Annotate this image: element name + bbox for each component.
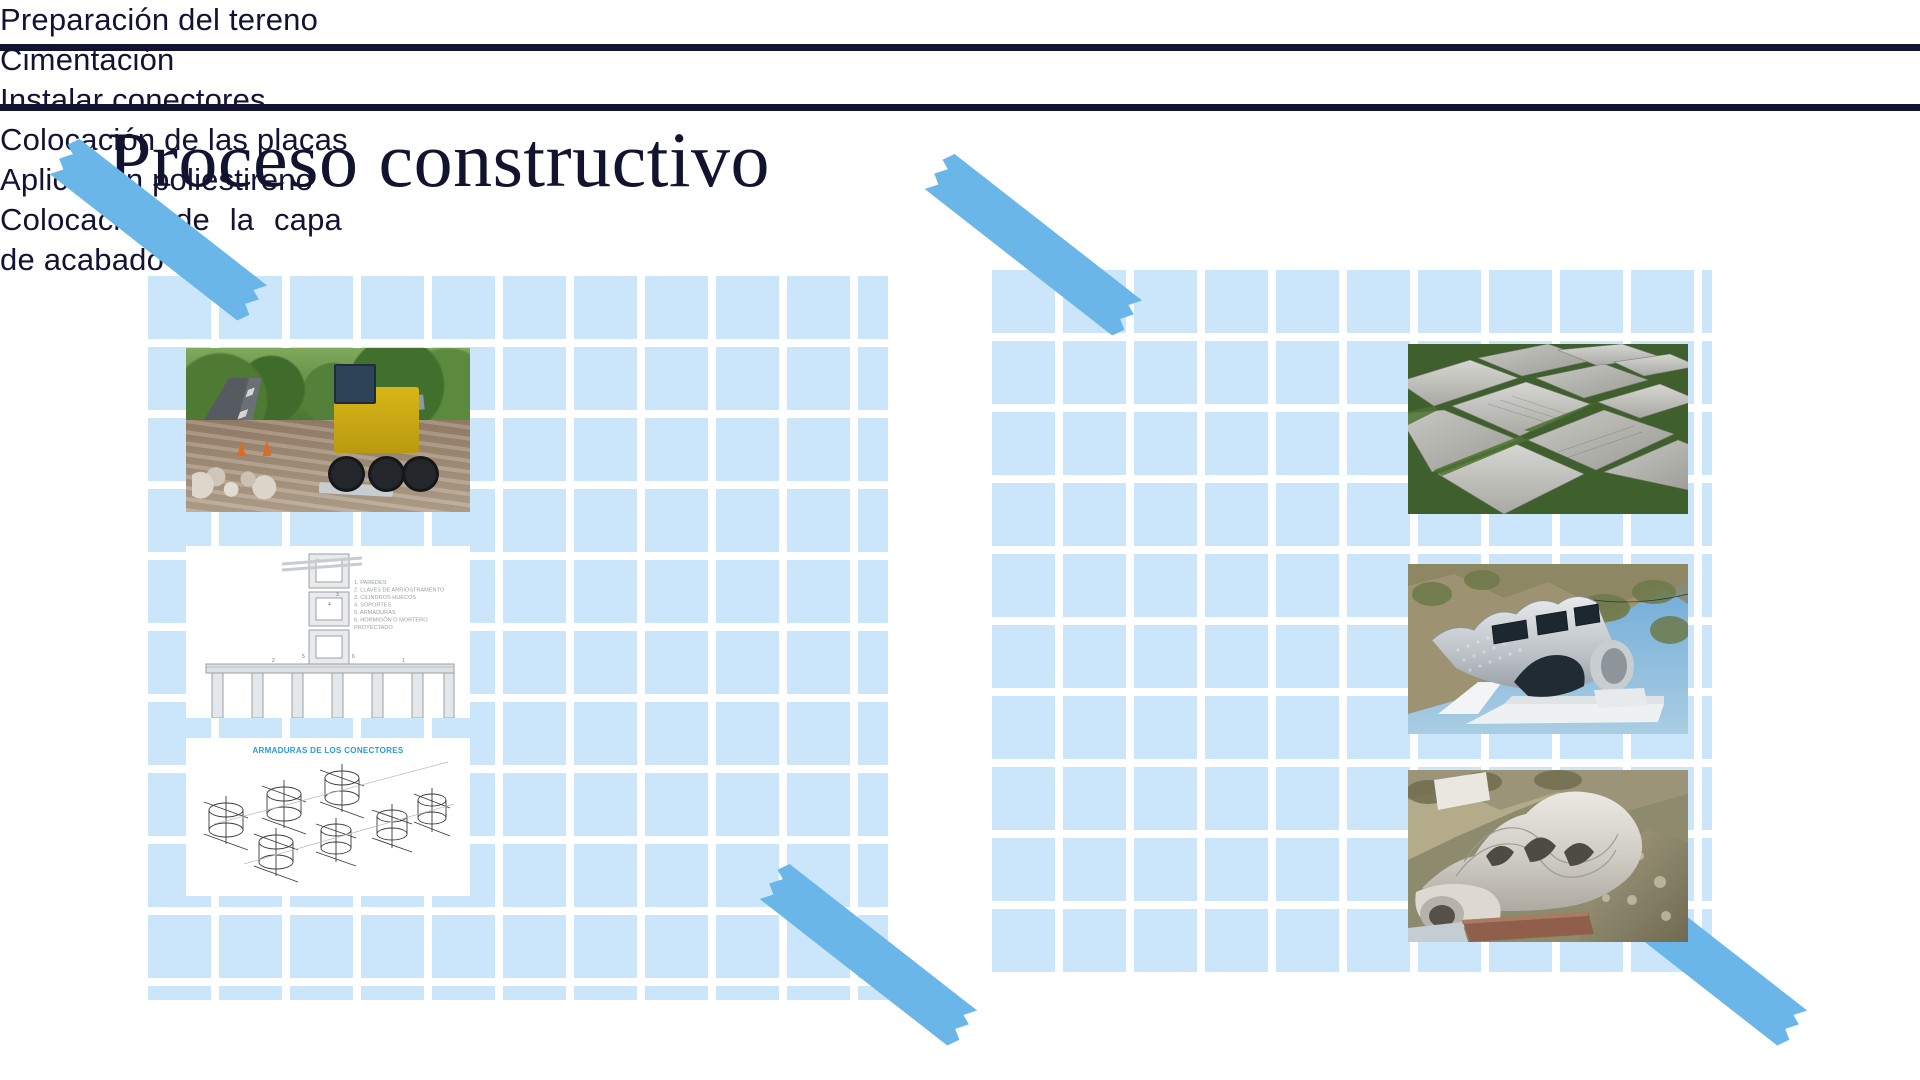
svg-text:1. PAREDES 2. LLAVES D: 1. PAREDES 2. LLAVES DE ARRIOSTRAMENTO 3… [354, 580, 458, 631]
svg-text:6: 6 [352, 654, 355, 660]
bottom-rule [0, 104, 1920, 111]
polystyrene-shell-house-photo [1408, 564, 1688, 734]
concrete-slabs-photo [1408, 344, 1688, 514]
svg-text:5: 5 [302, 654, 305, 660]
foundation-section-diagram: 5 6 2 1 3 4 1. PAREDES 2. LLAVES DE ARRI… [186, 546, 470, 718]
svg-text:1: 1 [402, 658, 405, 664]
svg-text:2: 2 [272, 658, 275, 664]
page-title: Proceso constructivo [108, 112, 770, 208]
step-label-preparacion-terreno: Preparación del tereno [0, 0, 1920, 40]
slide-canvas: Proceso constructivo [0, 0, 1920, 1080]
top-rule [0, 44, 1920, 51]
connector-reinforcement-diagram: ARMADURAS DE LOS CONECTORES [186, 738, 470, 896]
finished-shell-house-photo [1408, 770, 1688, 942]
svg-text:4: 4 [328, 602, 331, 608]
step-label-colocacion-capa-acabado: Colocación de la capa de acabado [0, 200, 342, 280]
road-grader-terrain-photo [186, 348, 470, 512]
svg-text:3: 3 [336, 592, 339, 598]
